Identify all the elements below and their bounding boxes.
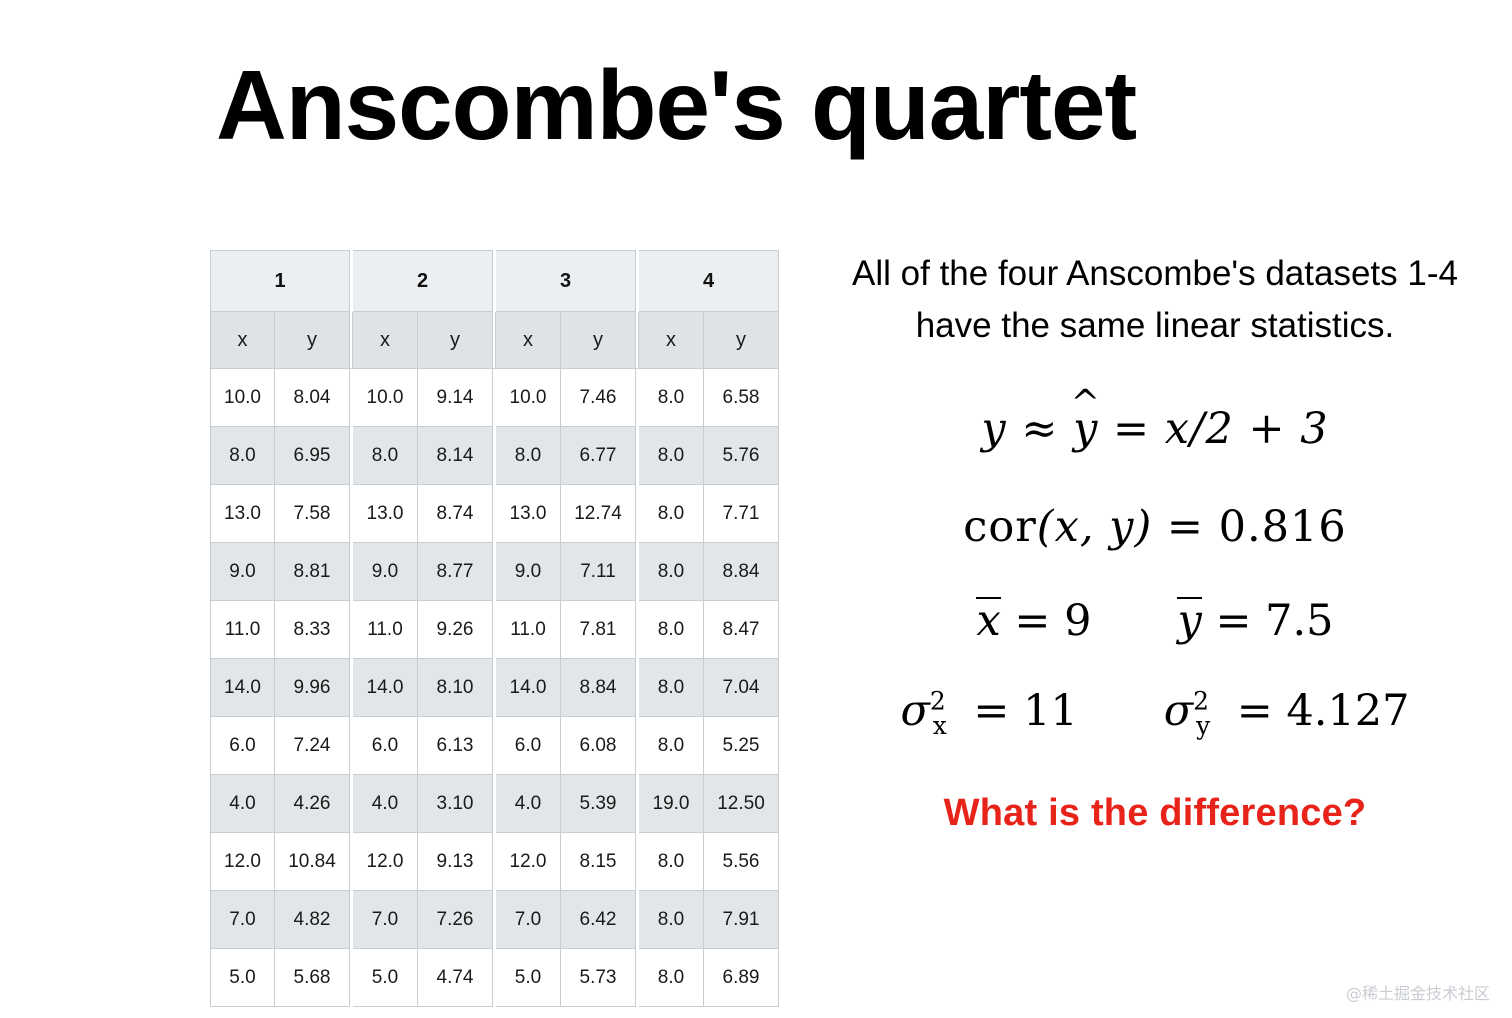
table-cell: 8.0	[639, 717, 704, 775]
table-cell: 5.73	[561, 949, 636, 1007]
table-cell: 6.0	[210, 717, 275, 775]
table-cell: 8.0	[639, 601, 704, 659]
correlation-args: (x, y)	[1037, 502, 1152, 552]
correlation-label: cor	[963, 502, 1037, 552]
variance-y-symbol-group: σ2y	[1164, 686, 1223, 736]
table-cell: 7.0	[210, 891, 275, 949]
column-header-x-2: x	[353, 312, 418, 369]
table-cell: 4.0	[210, 775, 275, 833]
table-cell: 8.14	[418, 427, 493, 485]
table-row: 14.09.9614.08.1014.08.848.07.04	[210, 659, 779, 717]
table-cell: 5.0	[353, 949, 418, 1007]
table-cell: 7.91	[704, 891, 779, 949]
column-header-y-3: y	[561, 312, 636, 369]
table-row: 5.05.685.04.745.05.738.06.89	[210, 949, 779, 1007]
table-cell: 9.14	[418, 369, 493, 427]
table-cell: 8.0	[353, 427, 418, 485]
table-cell: 9.0	[210, 543, 275, 601]
table-cell: 8.74	[418, 485, 493, 543]
intro-paragraph: All of the four Anscombe's datasets 1-4 …	[845, 248, 1465, 352]
table-cell: 6.77	[561, 427, 636, 485]
variance-x-subscript: x	[933, 711, 947, 740]
table-cell: 7.04	[704, 659, 779, 717]
table-cell: 14.0	[353, 659, 418, 717]
table-cell: 7.0	[496, 891, 561, 949]
table-cell: 4.74	[418, 949, 493, 1007]
table-row: 9.08.819.08.779.07.118.08.84	[210, 543, 779, 601]
table-cell: 9.0	[496, 543, 561, 601]
table-cell: 6.13	[418, 717, 493, 775]
table-cell: 6.08	[561, 717, 636, 775]
equation-mean-x: x = 9	[976, 596, 1091, 646]
table-cell: 8.04	[275, 369, 350, 427]
table-cell: 7.46	[561, 369, 636, 427]
table-cell: 7.26	[418, 891, 493, 949]
eq-regression-rhs: x/2 + 3	[1165, 404, 1329, 454]
table-cell: 8.0	[639, 485, 704, 543]
table-cell: 6.42	[561, 891, 636, 949]
table-cell: 3.10	[418, 775, 493, 833]
hat-symbol: ^	[1070, 386, 1101, 421]
table-head: 1234 xyxyxyxy	[210, 250, 779, 369]
table-cell: 5.39	[561, 775, 636, 833]
equals-symbol: =	[1215, 596, 1251, 646]
table-row: 12.010.8412.09.1312.08.158.05.56	[210, 833, 779, 891]
equation-variance-x: σ2x = 11	[900, 686, 1077, 736]
table-cell: 9.26	[418, 601, 493, 659]
table-cell: 5.0	[210, 949, 275, 1007]
table-cell: 12.0	[496, 833, 561, 891]
table-cell: 11.0	[210, 601, 275, 659]
table-row: 13.07.5813.08.7413.012.748.07.71	[210, 485, 779, 543]
table-cell: 4.0	[353, 775, 418, 833]
table-cell: 14.0	[210, 659, 275, 717]
table-cell: 8.0	[639, 833, 704, 891]
equals-symbol: =	[1167, 502, 1204, 552]
watermark-label: @稀土掘金技术社区	[1346, 980, 1490, 1004]
column-header-x-3: x	[496, 312, 561, 369]
table-cell: 10.0	[353, 369, 418, 427]
sigma-symbol: σ	[900, 686, 929, 736]
table-cell: 7.11	[561, 543, 636, 601]
variance-y-subscript: y	[1196, 711, 1210, 740]
table-cell: 8.47	[704, 601, 779, 659]
dataset-group-header-3: 3	[496, 250, 636, 312]
mean-y-symbol: y	[1177, 597, 1201, 643]
eq-regression-lhs: y	[981, 404, 1006, 454]
equation-correlation: cor(x, y) = 0.816	[845, 502, 1465, 552]
table-cell: 8.84	[704, 543, 779, 601]
table-cell: 5.0	[496, 949, 561, 1007]
column-header-y-1: y	[275, 312, 350, 369]
equation-regression: y ≈ ^y = x/2 + 3	[845, 404, 1465, 454]
table-cell: 6.95	[275, 427, 350, 485]
table-cell: 12.50	[704, 775, 779, 833]
table-cell: 10.0	[210, 369, 275, 427]
equals-symbol: =	[973, 686, 1009, 736]
info-panel: All of the four Anscombe's datasets 1-4 …	[845, 248, 1465, 835]
table-cell: 8.33	[275, 601, 350, 659]
table-row: 4.04.264.03.104.05.3919.012.50	[210, 775, 779, 833]
table-row: 7.04.827.07.267.06.428.07.91	[210, 891, 779, 949]
dataset-group-header-2: 2	[353, 250, 493, 312]
column-header-y-2: y	[418, 312, 493, 369]
table-cell: 8.81	[275, 543, 350, 601]
correlation-value: 0.816	[1219, 502, 1347, 552]
table-cell: 8.15	[561, 833, 636, 891]
table-cell: 8.0	[639, 369, 704, 427]
table-row: 8.06.958.08.148.06.778.05.76	[210, 427, 779, 485]
equals-symbol: =	[1237, 686, 1273, 736]
table-cell: 7.71	[704, 485, 779, 543]
dataset-group-header-row: 1234	[210, 250, 779, 312]
table-cell: 12.0	[210, 833, 275, 891]
table-cell: 7.58	[275, 485, 350, 543]
table-cell: 12.0	[353, 833, 418, 891]
table-cell: 12.74	[561, 485, 636, 543]
variance-x-symbol-group: σ2x	[900, 686, 959, 736]
table-cell: 7.24	[275, 717, 350, 775]
table-cell: 11.0	[496, 601, 561, 659]
mean-x-value: 9	[1064, 596, 1091, 646]
table-cell: 5.25	[704, 717, 779, 775]
table-cell: 13.0	[353, 485, 418, 543]
table-cell: 9.0	[353, 543, 418, 601]
table-cell: 9.96	[275, 659, 350, 717]
equals-symbol: =	[1014, 596, 1050, 646]
anscombe-quartet-table: 1234 xyxyxyxy 10.08.0410.09.1410.07.468.…	[210, 250, 779, 1007]
column-header-x-4: x	[639, 312, 704, 369]
table-cell: 7.81	[561, 601, 636, 659]
table-cell: 10.0	[496, 369, 561, 427]
table-cell: 5.76	[704, 427, 779, 485]
quartet-table-container: 1234 xyxyxyxy 10.08.0410.09.1410.07.468.…	[210, 250, 779, 1007]
column-header-y-4: y	[704, 312, 779, 369]
mean-y-value: 7.5	[1265, 596, 1333, 646]
table-cell: 8.84	[561, 659, 636, 717]
table-body: 10.08.0410.09.1410.07.468.06.588.06.958.…	[210, 369, 779, 1007]
table-cell: 8.0	[210, 427, 275, 485]
mean-x-symbol: x	[976, 597, 1000, 643]
table-cell: 4.0	[496, 775, 561, 833]
equation-mean-y: y = 7.5	[1177, 596, 1333, 646]
sigma-symbol: σ	[1164, 686, 1193, 736]
equation-variances-row: σ2x = 11 σ2y = 4.127	[845, 686, 1465, 736]
table-cell: 13.0	[210, 485, 275, 543]
table-cell: 6.0	[496, 717, 561, 775]
dataset-group-header-4: 4	[639, 250, 779, 312]
question-callout: What is the difference?	[845, 792, 1465, 835]
table-cell: 7.0	[353, 891, 418, 949]
table-cell: 11.0	[353, 601, 418, 659]
equation-means-row: x = 9 y = 7.5	[845, 596, 1465, 646]
table-cell: 13.0	[496, 485, 561, 543]
table-cell: 8.0	[639, 659, 704, 717]
dataset-group-header-1: 1	[210, 250, 350, 312]
table-cell: 8.77	[418, 543, 493, 601]
table-cell: 4.82	[275, 891, 350, 949]
table-cell: 6.0	[353, 717, 418, 775]
table-cell: 4.26	[275, 775, 350, 833]
table-cell: 6.58	[704, 369, 779, 427]
approx-symbol: ≈	[1021, 404, 1058, 454]
variance-y-value: 4.127	[1286, 686, 1409, 736]
table-cell: 5.68	[275, 949, 350, 1007]
table-cell: 5.56	[704, 833, 779, 891]
table-cell: 19.0	[639, 775, 704, 833]
equation-variance-y: σ2y = 4.127	[1164, 686, 1410, 736]
column-header-x-1: x	[210, 312, 275, 369]
table-cell: 14.0	[496, 659, 561, 717]
equals-symbol: =	[1113, 404, 1150, 454]
table-cell: 8.0	[639, 891, 704, 949]
page-title: Anscombe's quartet	[216, 54, 1136, 157]
table-cell: 10.84	[275, 833, 350, 891]
table-row: 11.08.3311.09.2611.07.818.08.47	[210, 601, 779, 659]
table-cell: 8.0	[639, 543, 704, 601]
table-cell: 8.0	[639, 427, 704, 485]
table-cell: 8.10	[418, 659, 493, 717]
table-cell: 6.89	[704, 949, 779, 1007]
eq-regression-yhat: ^y	[1073, 404, 1098, 454]
table-row: 10.08.0410.09.1410.07.468.06.58	[210, 369, 779, 427]
xy-column-header-row: xyxyxyxy	[210, 312, 779, 369]
variance-x-value: 11	[1023, 686, 1078, 736]
table-cell: 8.0	[639, 949, 704, 1007]
table-cell: 8.0	[496, 427, 561, 485]
table-row: 6.07.246.06.136.06.088.05.25	[210, 717, 779, 775]
table-cell: 9.13	[418, 833, 493, 891]
